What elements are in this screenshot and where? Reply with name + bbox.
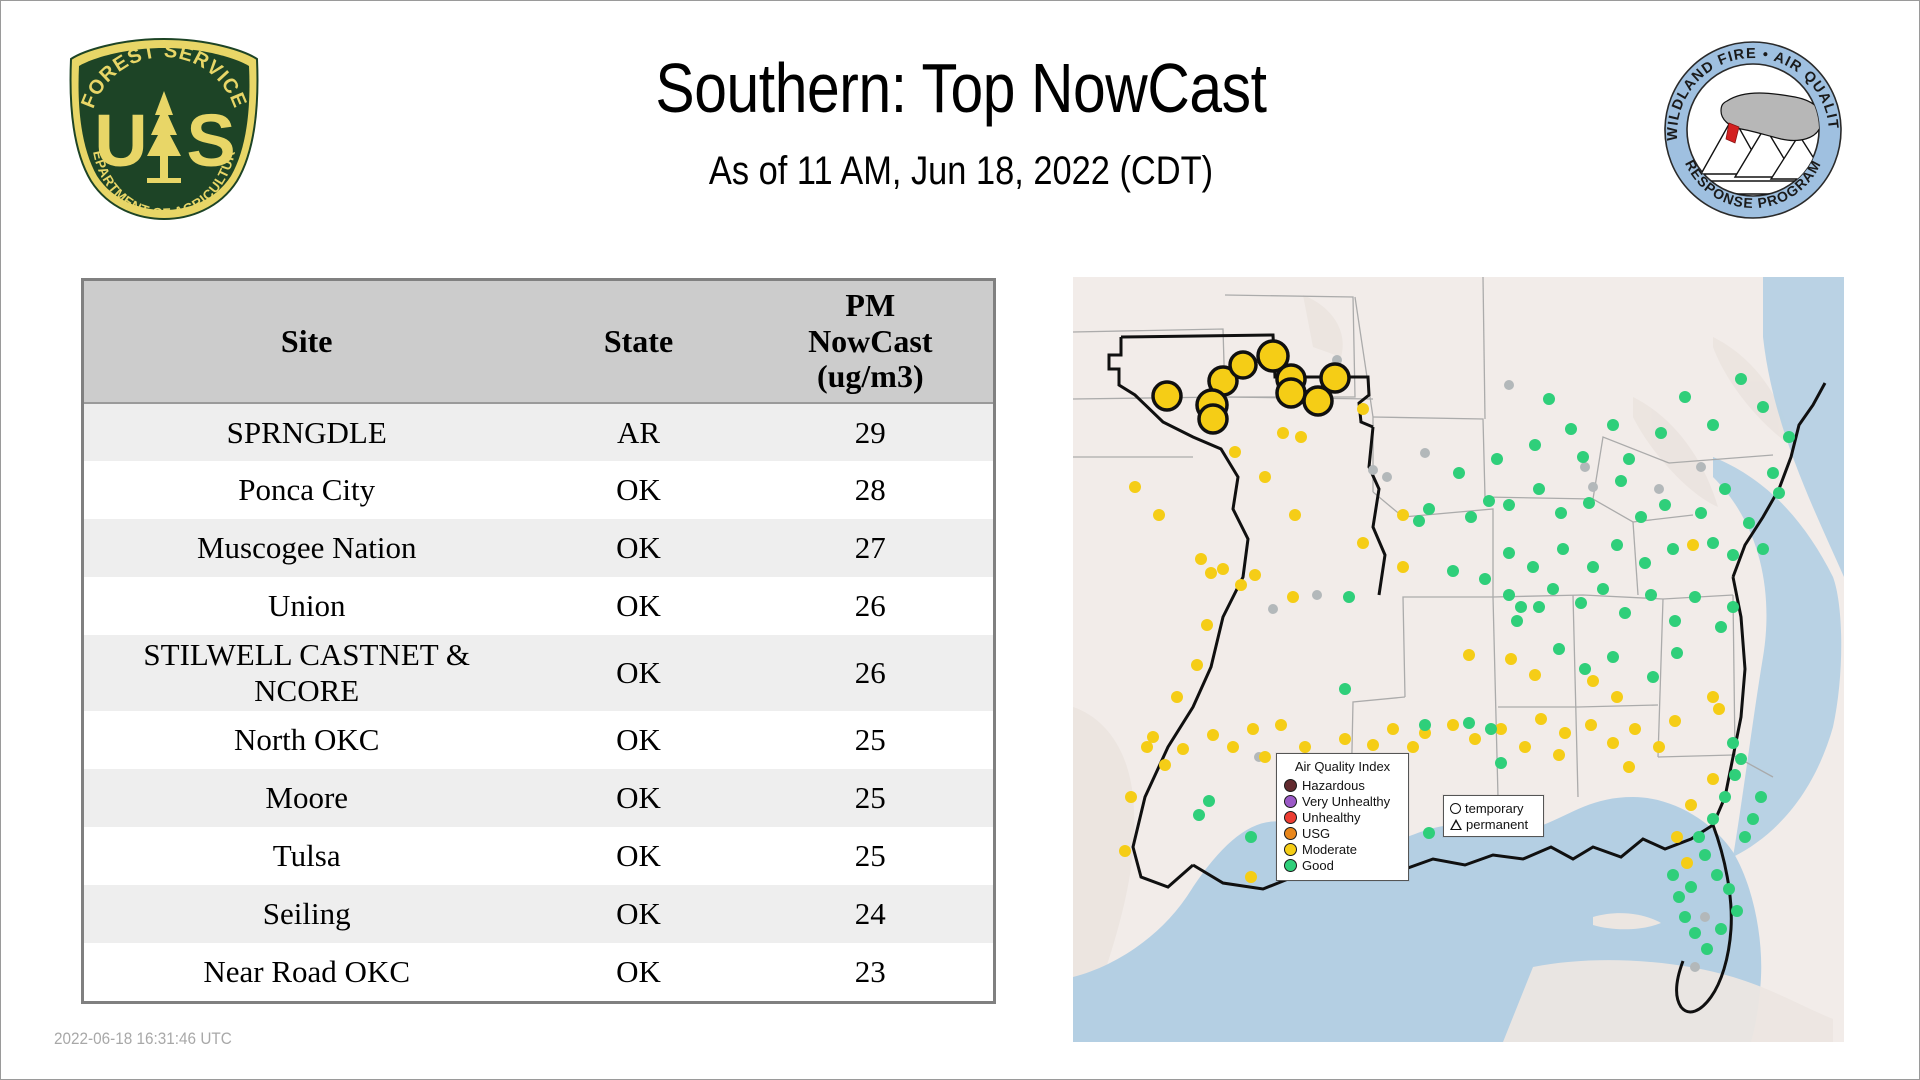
table-row: SPRNGDLEAR29 xyxy=(84,403,993,461)
site-cell: North OKC xyxy=(84,711,529,769)
pm-nowcast-cell: 25 xyxy=(748,827,993,885)
table-row: STILWELL CASTNET & NCOREOK26 xyxy=(84,635,993,711)
slide-root: FOREST SERVICE DEPARTMENT OF AGRICULTURE… xyxy=(0,0,1920,1080)
site-cell: Seiling xyxy=(84,885,529,943)
aqi-legend-row: Good xyxy=(1284,857,1401,873)
table-row: TulsaOK25 xyxy=(84,827,993,885)
state-cell: AR xyxy=(529,403,747,461)
table-row: Near Road OKCOK23 xyxy=(84,943,993,1001)
pm-nowcast-cell: 25 xyxy=(748,711,993,769)
pm-nowcast-cell: 28 xyxy=(748,461,993,519)
aqi-legend-row: Unhealthy xyxy=(1284,809,1401,825)
pm-header-line-2: NowCast xyxy=(752,324,989,360)
nowcast-table: Site State PM NowCast (ug/m3) SPRNGDLEAR… xyxy=(84,281,993,1001)
site-cell: STILWELL CASTNET & NCORE xyxy=(84,635,529,711)
site-cell: Union xyxy=(84,577,529,635)
state-cell: OK xyxy=(529,885,747,943)
column-header-state: State xyxy=(529,281,747,403)
aqi-legend-row: Moderate xyxy=(1284,841,1401,857)
aqi-legend: Air Quality Index HazardousVery Unhealth… xyxy=(1276,753,1409,881)
table-header-row: Site State PM NowCast (ug/m3) xyxy=(84,281,993,403)
legend-label-temporary: temporary xyxy=(1465,802,1524,815)
wfaqrp-logo: WILDLAND FIRE • AIR QUALITY RESPONSE PRO… xyxy=(1649,39,1857,221)
pm-nowcast-cell: 29 xyxy=(748,403,993,461)
aqi-swatch-icon xyxy=(1284,859,1297,872)
site-cell: Muscogee Nation xyxy=(84,519,529,577)
state-cell: OK xyxy=(529,577,747,635)
map-canvas xyxy=(1073,277,1844,1042)
column-header-pm-nowcast: PM NowCast (ug/m3) xyxy=(748,281,993,403)
circle-outline-icon xyxy=(1450,803,1461,814)
pm-nowcast-cell: 26 xyxy=(748,635,993,711)
usfs-shield-logo: FOREST SERVICE DEPARTMENT OF AGRICULTURE… xyxy=(59,33,269,223)
site-cell: Ponca City xyxy=(84,461,529,519)
state-cell: OK xyxy=(529,635,747,711)
aqi-legend-label: USG xyxy=(1302,827,1330,840)
pm-nowcast-cell: 24 xyxy=(748,885,993,943)
highlighted-site-marker[interactable] xyxy=(1304,387,1332,415)
svg-text:U: U xyxy=(94,99,147,182)
table-row: North OKCOK25 xyxy=(84,711,993,769)
title-block: Southern: Top NowCast As of 11 AM, Jun 1… xyxy=(281,49,1641,194)
aqi-legend-row: USG xyxy=(1284,825,1401,841)
page-title: Southern: Top NowCast xyxy=(390,49,1532,127)
aqi-swatch-icon xyxy=(1284,811,1297,824)
legend-label-permanent: permanent xyxy=(1466,818,1528,831)
table-row: MooreOK25 xyxy=(84,769,993,827)
table-body: SPRNGDLEAR29Ponca CityOK28Muscogee Natio… xyxy=(84,403,993,1001)
aqi-legend-rows: HazardousVery UnhealthyUnhealthyUSGModer… xyxy=(1284,777,1401,873)
generated-timestamp: 2022-06-18 16:31:46 UTC xyxy=(54,1029,232,1049)
aqi-legend-label: Moderate xyxy=(1302,843,1357,856)
site-cell: Near Road OKC xyxy=(84,943,529,1001)
table-row: UnionOK26 xyxy=(84,577,993,635)
pm-nowcast-cell: 26 xyxy=(748,577,993,635)
site-type-legend: temporary permanent xyxy=(1443,795,1544,837)
state-cell: OK xyxy=(529,711,747,769)
aqi-swatch-icon xyxy=(1284,827,1297,840)
legend-row-permanent: permanent xyxy=(1450,816,1537,832)
aqi-swatch-icon xyxy=(1284,795,1297,808)
table-row: SeilingOK24 xyxy=(84,885,993,943)
triangle-outline-icon xyxy=(1450,819,1462,830)
site-cell: Tulsa xyxy=(84,827,529,885)
table-row: Muscogee NationOK27 xyxy=(84,519,993,577)
svg-text:S: S xyxy=(186,99,235,182)
page-subtitle: As of 11 AM, Jun 18, 2022 (CDT) xyxy=(376,149,1546,194)
aqi-legend-label: Hazardous xyxy=(1302,779,1365,792)
table-row: Ponca CityOK28 xyxy=(84,461,993,519)
aqi-legend-row: Hazardous xyxy=(1284,777,1401,793)
pm-nowcast-cell: 23 xyxy=(748,943,993,1001)
aqi-legend-row: Very Unhealthy xyxy=(1284,793,1401,809)
pm-nowcast-cell: 25 xyxy=(748,769,993,827)
pm-header-line-3: (ug/m3) xyxy=(752,359,989,395)
state-cell: OK xyxy=(529,943,747,1001)
site-cell: SPRNGDLE xyxy=(84,403,529,461)
table-header: Site State PM NowCast (ug/m3) xyxy=(84,281,993,403)
legend-row-temporary: temporary xyxy=(1450,800,1537,816)
highlighted-site-marker[interactable] xyxy=(1277,379,1305,407)
column-header-site: Site xyxy=(84,281,529,403)
aqi-swatch-icon xyxy=(1284,843,1297,856)
state-cell: OK xyxy=(529,827,747,885)
site-cell: Moore xyxy=(84,769,529,827)
aqi-legend-label: Very Unhealthy xyxy=(1302,795,1390,808)
aqi-swatch-icon xyxy=(1284,779,1297,792)
state-cell: OK xyxy=(529,461,747,519)
aqi-legend-label: Good xyxy=(1302,859,1334,872)
highlighted-site-marker[interactable] xyxy=(1153,382,1181,410)
state-cell: OK xyxy=(529,769,747,827)
pm-nowcast-cell: 27 xyxy=(748,519,993,577)
air-quality-map[interactable]: Air Quality Index HazardousVery Unhealth… xyxy=(1073,277,1844,1042)
state-cell: OK xyxy=(529,519,747,577)
highlighted-site-marker[interactable] xyxy=(1230,352,1256,378)
aqi-legend-title: Air Quality Index xyxy=(1284,759,1401,774)
nowcast-table-container: Site State PM NowCast (ug/m3) SPRNGDLEAR… xyxy=(81,278,996,1004)
aqi-legend-label: Unhealthy xyxy=(1302,811,1361,824)
header: FOREST SERVICE DEPARTMENT OF AGRICULTURE… xyxy=(1,1,1919,271)
pm-header-line-1: PM xyxy=(752,288,989,324)
highlighted-site-marker[interactable] xyxy=(1199,405,1227,433)
